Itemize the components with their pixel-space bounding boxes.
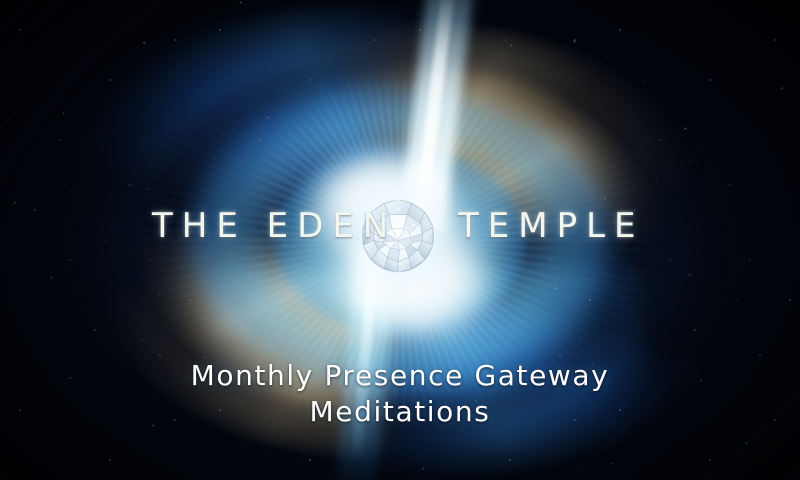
promo-banner: THE EDEN TEMPLE Monthly Presence Gateway… (0, 0, 800, 480)
subtitle-line-2: Meditations (0, 394, 800, 430)
diamond-gem-icon (360, 198, 436, 274)
diamond-glow (336, 174, 460, 298)
subtitle: Monthly Presence Gateway Meditations (0, 358, 800, 430)
subtitle-line-1: Monthly Presence Gateway (0, 358, 800, 394)
